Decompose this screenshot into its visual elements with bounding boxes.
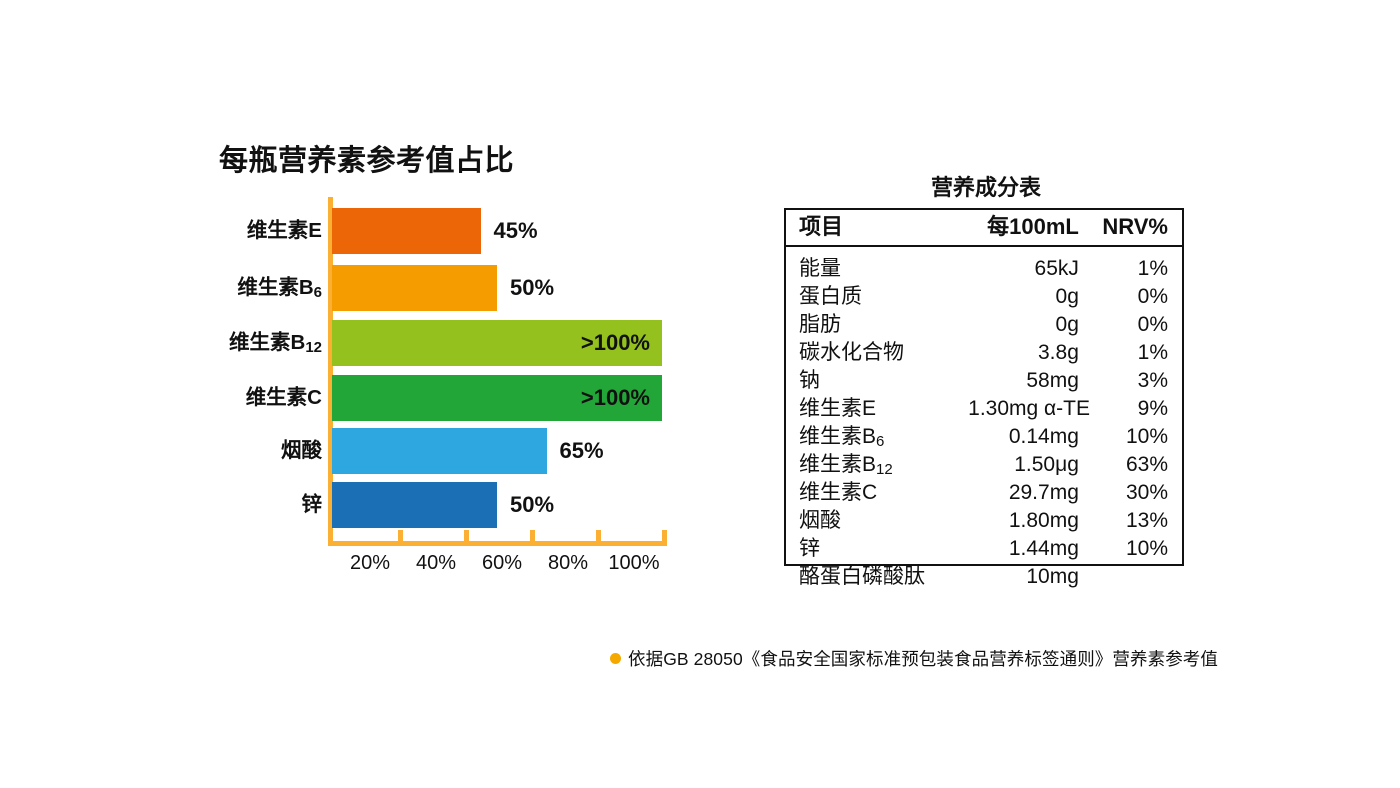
table-cell-amount: 0.14mg bbox=[968, 422, 1095, 450]
table-cell-item: 维生素E bbox=[786, 394, 968, 422]
table-row: 钠58mg3% bbox=[786, 366, 1182, 394]
table-cell-item: 锌 bbox=[786, 534, 968, 562]
bar-row: 维生素C>100% bbox=[0, 375, 720, 421]
nutrition-table: 项目 每100mL NRV% 能量65kJ1%蛋白质0g0%脂肪0g0%碳水化合… bbox=[786, 210, 1182, 590]
bar-value-label: 65% bbox=[560, 428, 604, 474]
table-cell-item: 能量 bbox=[786, 246, 968, 282]
bar-category-label: 维生素B12 bbox=[150, 320, 322, 368]
table-cell-item-subscript: 12 bbox=[876, 461, 893, 478]
bar-value-label: >100% bbox=[332, 320, 650, 366]
table-cell-amount: 3.8g bbox=[968, 338, 1095, 366]
bar-category-label: 维生素B6 bbox=[150, 265, 322, 313]
bar-category-label-subscript: 6 bbox=[314, 284, 322, 301]
axis-tick-label: 100% bbox=[594, 552, 674, 575]
table-row: 维生素C29.7mg30% bbox=[786, 478, 1182, 506]
table-cell-nrv: 9% bbox=[1095, 394, 1182, 422]
table-row: 维生素B121.50μg63% bbox=[786, 450, 1182, 478]
table-cell-amount: 0g bbox=[968, 310, 1095, 338]
table-cell-nrv: 10% bbox=[1095, 422, 1182, 450]
bar-category-label: 维生素C bbox=[150, 375, 322, 421]
nutrition-table-title: 营养成分表 bbox=[784, 170, 1188, 202]
bar-category-label: 锌 bbox=[150, 482, 322, 528]
table-header-nrv: NRV% bbox=[1095, 210, 1182, 246]
table-cell-nrv bbox=[1095, 562, 1182, 590]
bar-row: 锌50% bbox=[0, 482, 720, 528]
bar-fill bbox=[332, 428, 547, 474]
table-cell-item: 维生素B6 bbox=[786, 422, 968, 450]
table-row: 能量65kJ1% bbox=[786, 246, 1182, 282]
table-cell-nrv: 13% bbox=[1095, 506, 1182, 534]
nutrition-table-box: 项目 每100mL NRV% 能量65kJ1%蛋白质0g0%脂肪0g0%碳水化合… bbox=[784, 208, 1184, 566]
bar-row: 烟酸65% bbox=[0, 428, 720, 474]
chart-title: 每瓶营养素参考值占比 bbox=[219, 137, 514, 179]
table-cell-nrv: 1% bbox=[1095, 338, 1182, 366]
table-cell-item: 维生素B12 bbox=[786, 450, 968, 478]
axis-tick bbox=[464, 530, 469, 543]
table-cell-nrv: 1% bbox=[1095, 246, 1182, 282]
chart-x-axis-line bbox=[328, 541, 667, 546]
table-cell-amount: 1.50μg bbox=[968, 450, 1095, 478]
bar-category-label: 烟酸 bbox=[150, 428, 322, 474]
bar-row: 维生素E45% bbox=[0, 208, 720, 254]
bar-row: 维生素B650% bbox=[0, 265, 720, 311]
bar-row: 维生素B12>100% bbox=[0, 320, 720, 366]
axis-tick bbox=[530, 530, 535, 543]
bar-track bbox=[332, 482, 497, 528]
footnote: 依据GB 28050《食品安全国家标准预包装食品营养标签通则》营养素参考值 bbox=[610, 646, 1218, 671]
table-cell-amount: 1.80mg bbox=[968, 506, 1095, 534]
table-row: 锌1.44mg10% bbox=[786, 534, 1182, 562]
table-cell-item: 维生素C bbox=[786, 478, 968, 506]
table-cell-amount: 0g bbox=[968, 282, 1095, 310]
table-cell-item: 钠 bbox=[786, 366, 968, 394]
axis-tick bbox=[398, 530, 403, 543]
table-cell-nrv: 3% bbox=[1095, 366, 1182, 394]
bar-value-label: 50% bbox=[510, 265, 554, 311]
table-cell-amount: 65kJ bbox=[968, 246, 1095, 282]
table-cell-item: 脂肪 bbox=[786, 310, 968, 338]
axis-tick bbox=[662, 530, 667, 543]
table-cell-amount: 58mg bbox=[968, 366, 1095, 394]
table-cell-nrv: 10% bbox=[1095, 534, 1182, 562]
bullet-icon bbox=[610, 653, 621, 664]
bar-value-label: 50% bbox=[510, 482, 554, 528]
table-row: 烟酸1.80mg13% bbox=[786, 506, 1182, 534]
bar-value-label: 45% bbox=[494, 208, 538, 254]
bar-track bbox=[332, 208, 481, 254]
bar-value-label: >100% bbox=[332, 375, 650, 421]
axis-tick bbox=[596, 530, 601, 543]
table-cell-item: 蛋白质 bbox=[786, 282, 968, 310]
bar-fill bbox=[332, 265, 497, 311]
table-cell-item: 碳水化合物 bbox=[786, 338, 968, 366]
bar-chart-panel: 每瓶营养素参考值占比 维生素E45%维生素B650%维生素B12>100%维生素… bbox=[0, 0, 720, 640]
table-cell-amount: 1.30mg α-TE bbox=[968, 394, 1095, 422]
bar-fill bbox=[332, 208, 481, 254]
table-row: 蛋白质0g0% bbox=[786, 282, 1182, 310]
bar-category-label-subscript: 12 bbox=[305, 339, 322, 356]
table-cell-item: 烟酸 bbox=[786, 506, 968, 534]
bar-category-label: 维生素E bbox=[150, 208, 322, 254]
bar-fill bbox=[332, 482, 497, 528]
table-cell-nrv: 0% bbox=[1095, 310, 1182, 338]
table-cell-item-subscript: 6 bbox=[876, 433, 884, 450]
table-row: 维生素E1.30mg α-TE9% bbox=[786, 394, 1182, 422]
table-row: 脂肪0g0% bbox=[786, 310, 1182, 338]
table-header-amount: 每100mL bbox=[968, 210, 1095, 246]
table-cell-amount: 29.7mg bbox=[968, 478, 1095, 506]
table-cell-item: 酪蛋白磷酸肽 bbox=[786, 562, 968, 590]
nutrition-table-body: 能量65kJ1%蛋白质0g0%脂肪0g0%碳水化合物3.8g1%钠58mg3%维… bbox=[786, 246, 1182, 590]
table-header-item: 项目 bbox=[786, 210, 968, 246]
nutrition-infographic: 每瓶营养素参考值占比 维生素E45%维生素B650%维生素B12>100%维生素… bbox=[0, 0, 1400, 788]
table-cell-amount: 10mg bbox=[968, 562, 1095, 590]
table-header-row: 项目 每100mL NRV% bbox=[786, 210, 1182, 246]
bar-track bbox=[332, 265, 497, 311]
table-cell-nrv: 63% bbox=[1095, 450, 1182, 478]
table-row: 酪蛋白磷酸肽10mg bbox=[786, 562, 1182, 590]
footnote-text: 依据GB 28050《食品安全国家标准预包装食品营养标签通则》营养素参考值 bbox=[628, 646, 1218, 671]
table-cell-nrv: 30% bbox=[1095, 478, 1182, 506]
table-row: 维生素B60.14mg10% bbox=[786, 422, 1182, 450]
table-row: 碳水化合物3.8g1% bbox=[786, 338, 1182, 366]
bar-track bbox=[332, 428, 547, 474]
table-cell-amount: 1.44mg bbox=[968, 534, 1095, 562]
table-cell-nrv: 0% bbox=[1095, 282, 1182, 310]
